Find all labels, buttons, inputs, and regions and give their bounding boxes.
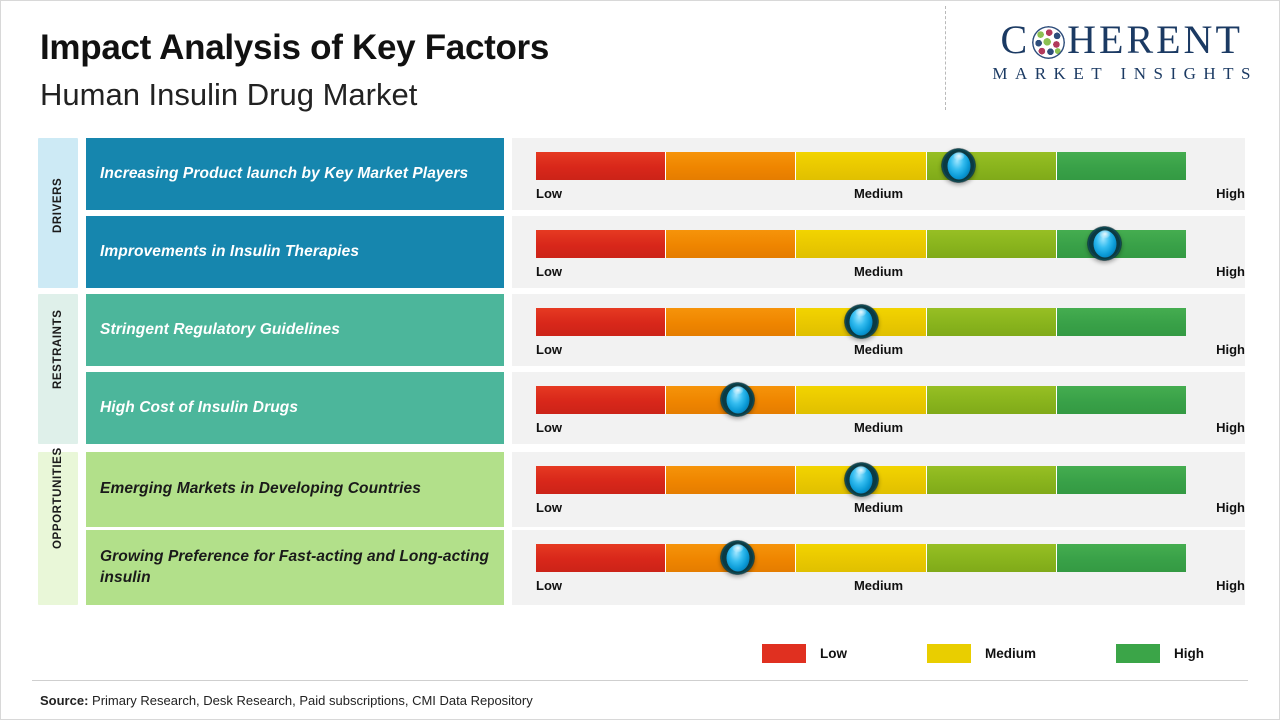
matrix-row: Growing Preference for Fast-acting and L… [0, 530, 1280, 605]
legend-item: High [1116, 644, 1204, 663]
scale-tick-high: High [1216, 420, 1245, 435]
scale-segment-5 [1057, 544, 1186, 572]
factor-box[interactable]: Stringent Regulatory Guidelines [86, 294, 504, 366]
factor-box[interactable]: Improvements in Insulin Therapies [86, 216, 504, 288]
scale-segment-1 [536, 152, 666, 180]
logo-tagline: MARKET INSIGHTS [985, 64, 1258, 84]
legend-item: Medium [927, 644, 1036, 663]
impact-scale-bar[interactable] [536, 544, 1186, 572]
legend-label: High [1174, 646, 1204, 661]
legend-items: LowMediumHigh [762, 644, 1204, 663]
scale-tick-high: High [1216, 578, 1245, 593]
scale-segment-2 [666, 230, 796, 258]
scale-segment-1 [536, 544, 666, 572]
scale-tick-medium: Medium [512, 420, 1245, 435]
impact-marker[interactable] [838, 456, 885, 503]
factor-label: Growing Preference for Fast-acting and L… [100, 547, 490, 588]
scale-tick-medium: Medium [512, 342, 1245, 357]
scale-segment-4 [927, 308, 1057, 336]
scale-segment-1 [536, 386, 666, 414]
scale-tick-high: High [1216, 342, 1245, 357]
scale-segment-3 [796, 152, 926, 180]
impact-marker[interactable] [1081, 220, 1128, 267]
scale-segment-5 [1057, 466, 1186, 494]
impact-gauge: LowMediumHigh [512, 452, 1245, 527]
legend-swatch-medium [927, 644, 971, 663]
impact-gauge: LowMediumHigh [512, 294, 1245, 366]
scale-segment-3 [796, 544, 926, 572]
scale-segment-5 [1057, 152, 1186, 180]
matrix-row: Stringent Regulatory GuidelinesLowMedium… [0, 294, 1280, 366]
scale-segment-4 [927, 466, 1057, 494]
scale-tick-high: High [1216, 500, 1245, 515]
scale-tick-medium: Medium [512, 186, 1245, 201]
legend-label: Medium [985, 646, 1036, 661]
source-text: Primary Research, Desk Research, Paid su… [88, 693, 532, 708]
impact-gauge: LowMediumHigh [512, 138, 1245, 210]
scale-tick-high: High [1216, 264, 1245, 279]
legend-swatch-low [762, 644, 806, 663]
matrix-row: Emerging Markets in Developing Countries… [0, 452, 1280, 527]
factor-box[interactable]: Emerging Markets in Developing Countries [86, 452, 504, 527]
scale-segment-3 [796, 230, 926, 258]
logo-divider [945, 6, 946, 110]
impact-marker[interactable] [935, 142, 982, 189]
scale-segment-5 [1057, 308, 1186, 336]
impact-marker[interactable] [714, 534, 761, 581]
factor-label: High Cost of Insulin Drugs [100, 398, 298, 418]
scale-segment-2 [666, 152, 796, 180]
factor-label: Stringent Regulatory Guidelines [100, 320, 340, 340]
factor-label: Emerging Markets in Developing Countries [100, 479, 421, 499]
legend-item: Low [762, 644, 847, 663]
factor-box[interactable]: High Cost of Insulin Drugs [86, 372, 504, 444]
impact-gauge: LowMediumHigh [512, 216, 1245, 288]
header: Impact Analysis of Key Factors Human Ins… [0, 0, 1280, 130]
scale-tick-high: High [1216, 186, 1245, 201]
scale-segment-3 [796, 386, 926, 414]
factor-box[interactable]: Growing Preference for Fast-acting and L… [86, 530, 504, 605]
title-block: Impact Analysis of Key Factors Human Ins… [40, 30, 549, 110]
legend-swatch-high [1116, 644, 1160, 663]
scale-tick-medium: Medium [512, 264, 1245, 279]
impact-scale-bar[interactable] [536, 152, 1186, 180]
scale-segment-2 [666, 466, 796, 494]
scale-segment-1 [536, 230, 666, 258]
page-title: Impact Analysis of Key Factors [40, 30, 549, 65]
factor-label: Improvements in Insulin Therapies [100, 242, 359, 262]
impact-gauge: LowMediumHigh [512, 530, 1245, 605]
factor-label: Increasing Product launch by Key Market … [100, 164, 468, 184]
scale-tick-medium: Medium [512, 578, 1245, 593]
source-note: Source: Primary Research, Desk Research,… [40, 693, 533, 708]
page-subtitle: Human Insulin Drug Market [40, 79, 549, 110]
matrix-row: Improvements in Insulin TherapiesLowMedi… [0, 216, 1280, 288]
logo-letters-herent: HERENT [1067, 20, 1243, 60]
impact-gauge: LowMediumHigh [512, 372, 1245, 444]
scale-segment-4 [927, 230, 1057, 258]
scale-segment-2 [666, 308, 796, 336]
source-label: Source: [40, 693, 88, 708]
impact-marker[interactable] [838, 298, 885, 345]
company-logo: C HERENT MARKET INSIGHTS [985, 20, 1258, 84]
scale-segment-4 [927, 544, 1057, 572]
legend-label: Low [820, 646, 847, 661]
scale-segment-5 [1057, 386, 1186, 414]
matrix-row: Increasing Product launch by Key Market … [0, 138, 1280, 210]
footer-divider [32, 680, 1248, 681]
scale-segment-4 [927, 386, 1057, 414]
scale-tick-medium: Medium [512, 500, 1245, 515]
scale-segment-1 [536, 466, 666, 494]
scale-segment-1 [536, 308, 666, 336]
impact-marker[interactable] [714, 376, 761, 423]
matrix-row: High Cost of Insulin DrugsLowMediumHigh [0, 372, 1280, 444]
logo-letter-c: C [1000, 20, 1030, 60]
factor-box[interactable]: Increasing Product launch by Key Market … [86, 138, 504, 210]
globe-icon [1032, 26, 1065, 59]
logo-wordmark: C HERENT [985, 20, 1258, 60]
impact-scale-bar[interactable] [536, 386, 1186, 414]
